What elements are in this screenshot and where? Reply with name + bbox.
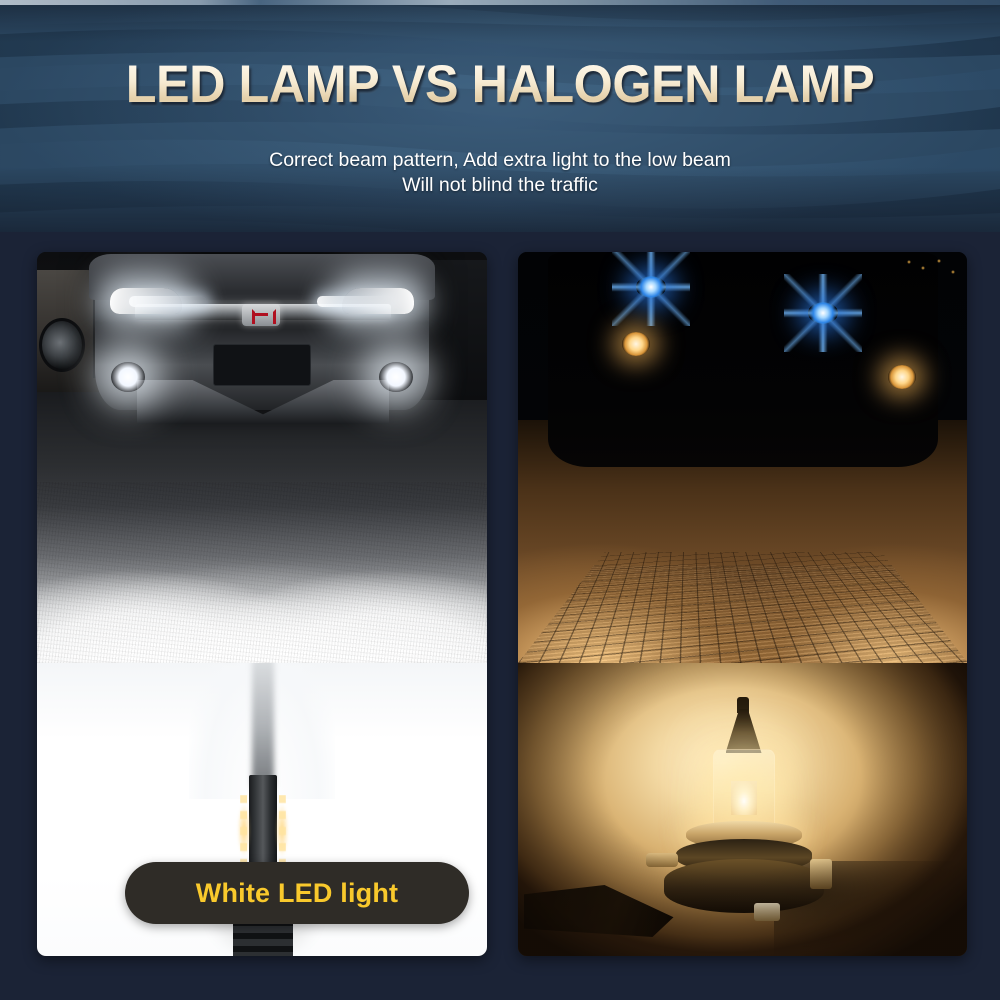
header-banner: LED LAMP VS HALOGEN LAMP Correct beam pa… (0, 0, 1000, 232)
label-pill-white-led: White LED light (125, 862, 469, 924)
blue-headlight-left (636, 276, 666, 298)
halogen-bulb-photo (518, 663, 968, 956)
background-street-lights (901, 258, 963, 282)
wheel (39, 318, 85, 372)
subtitle-line-2: Will not blind the traffic (0, 173, 1000, 198)
comparison-card-halogen[interactable]: yellow halogen lamp (518, 252, 968, 956)
blue-headlight-right (808, 302, 838, 324)
car-silhouette (548, 252, 938, 467)
poster: LED LAMP VS HALOGEN LAMP Correct beam pa… (0, 0, 1000, 1000)
led-fog-lamp-left (111, 362, 145, 392)
halogen-bulb-vignette (518, 663, 968, 956)
label-pill-white-led-text: White LED light (196, 878, 398, 909)
led-headlight-right (342, 288, 414, 314)
subtitle-line-1: Correct beam pattern, Add extra light to… (269, 149, 731, 171)
halogen-fog-lamp-left (622, 332, 650, 356)
asphalt-texture (37, 482, 487, 663)
halogen-beam-photo (518, 252, 968, 663)
led-fog-lamp-right (379, 362, 413, 392)
honda-logo-icon (242, 304, 280, 326)
led-beam-photo (37, 252, 487, 663)
comparison-grid: White LED light (37, 252, 967, 956)
license-plate (213, 344, 311, 386)
page-subtitle: Correct beam pattern, Add extra light to… (0, 148, 1000, 198)
led-bulb-shaft (252, 663, 274, 787)
halogen-fog-lamp-right (888, 365, 916, 389)
comparison-card-led[interactable]: White LED light (37, 252, 487, 956)
header-top-strip (0, 0, 1000, 5)
page-title: LED LAMP VS HALOGEN LAMP (25, 58, 975, 111)
led-chip-array (240, 795, 286, 865)
led-headlight-left (110, 288, 182, 314)
